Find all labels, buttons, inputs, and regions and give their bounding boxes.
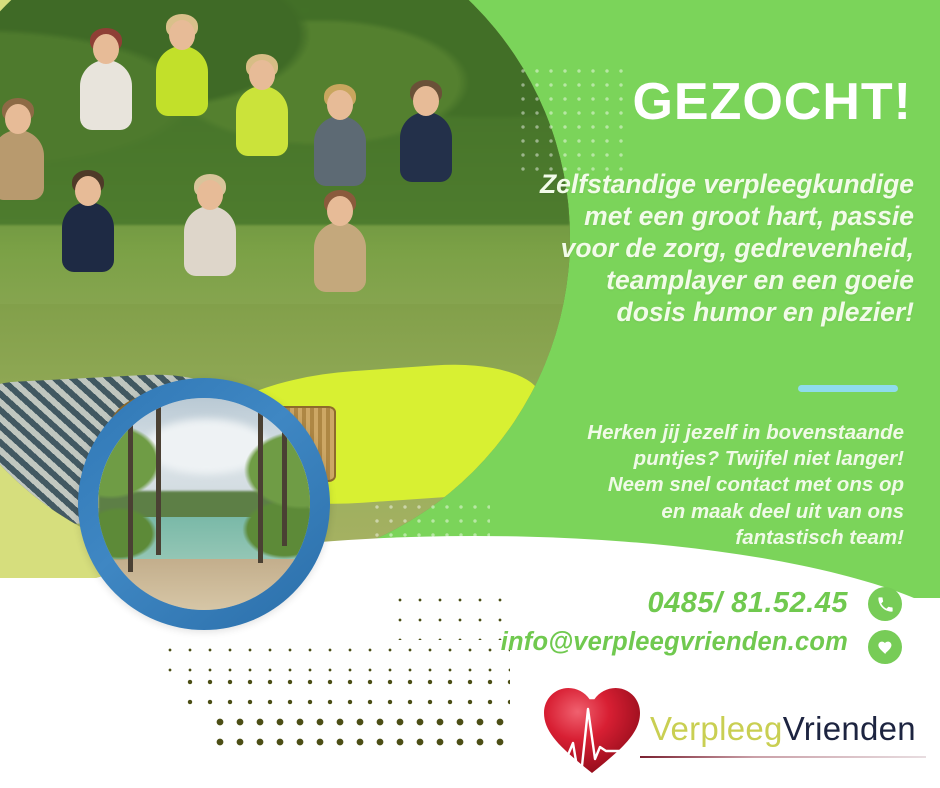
call-to-action-paragraph: Herken jij jezelf in bovenstaande puntje… <box>504 420 904 551</box>
email-address[interactable]: info@verpleegvrienden.com <box>501 628 848 657</box>
heart-ecg-icon <box>540 681 644 777</box>
page-title: GEZOCHT! <box>632 76 912 128</box>
circle-photo-ring <box>78 378 330 630</box>
blue-divider <box>798 385 898 392</box>
heart-icon[interactable] <box>868 630 902 664</box>
circle-photo-tree <box>156 398 161 555</box>
subheadline-line: dosis humor en plezier! <box>464 296 914 328</box>
brand-logo: VerpleegVrienden <box>540 676 930 782</box>
subheadline-line: voor de zorg, gedrevenheid, <box>464 232 914 264</box>
circle-photo-tree <box>258 398 263 563</box>
brand-word-vrienden: Vrienden <box>783 710 916 747</box>
paragraph-line: en maak deel uit van ons <box>504 499 904 525</box>
logo-underline <box>640 756 926 758</box>
paragraph-line: Herken jij jezelf in bovenstaande <box>504 420 904 446</box>
phone-number[interactable]: 0485/ 81.52.45 <box>647 587 848 620</box>
paragraph-line: puntjes? Twijfel niet langer! <box>504 446 904 472</box>
brand-word-verpleeg: Verpleeg <box>650 710 783 747</box>
dot-pattern-top <box>516 64 628 176</box>
halftone-dots-small <box>160 640 510 676</box>
halftone-dots-medium <box>180 672 510 716</box>
subheadline-line: Zelfstandige verpleegkundige <box>464 168 914 200</box>
paragraph-line: Neem snel contact met ons op <box>504 472 904 498</box>
phone-icon[interactable] <box>868 587 902 621</box>
circle-photo-tree <box>128 398 133 572</box>
subheadline-line: met een groot hart, passie <box>464 200 914 232</box>
subheadline-line: teamplayer en een goeie <box>464 264 914 296</box>
halftone-dots-large <box>210 712 510 756</box>
paragraph-line: fantastisch team! <box>504 525 904 551</box>
poster-canvas: GEZOCHT! Zelfstandige verpleegkundige me… <box>0 0 940 788</box>
halftone-dots-upper <box>390 590 510 640</box>
brand-wordmark: VerpleegVrienden <box>650 710 916 748</box>
subheadline: Zelfstandige verpleegkundige met een gro… <box>464 168 914 328</box>
three-colleagues-lake-photo <box>98 398 310 610</box>
circle-photo-tree <box>282 398 287 546</box>
